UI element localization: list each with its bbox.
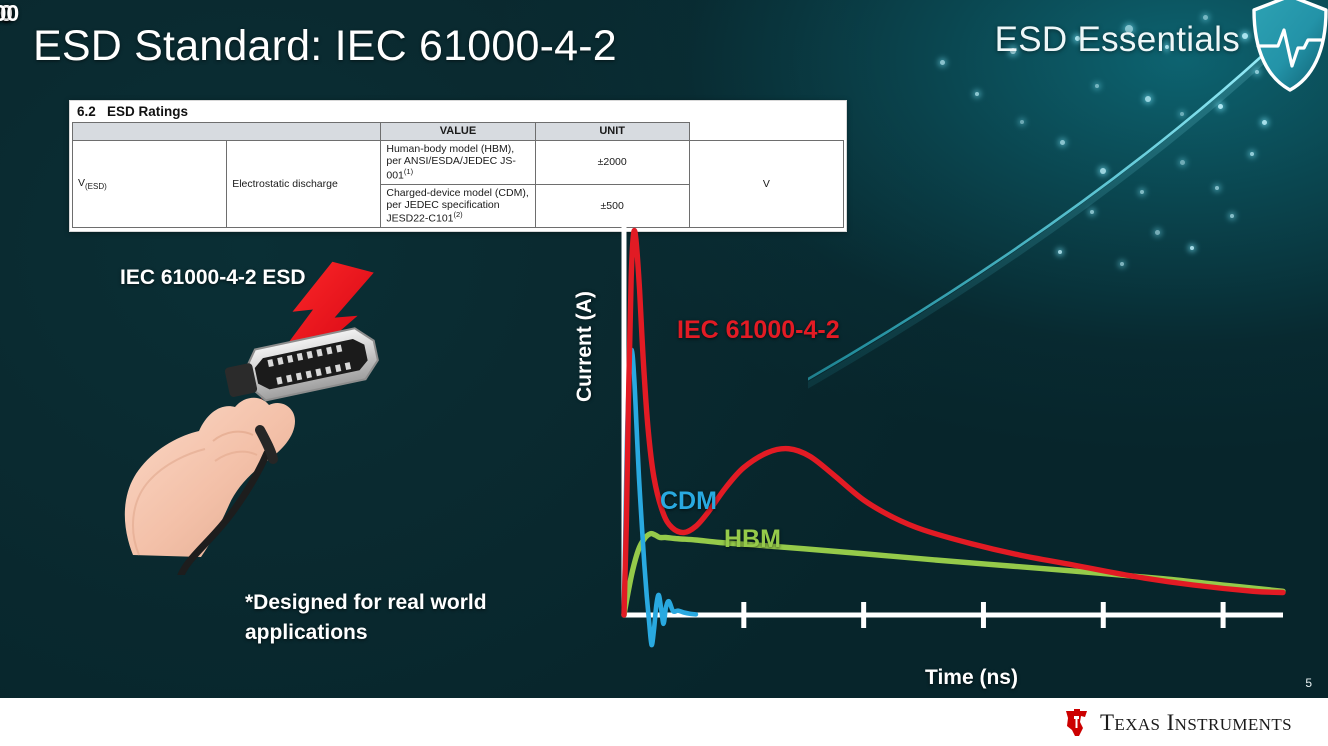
particle xyxy=(1218,104,1223,109)
hand-shape xyxy=(125,398,295,557)
desc-hbm-footnote: (1) xyxy=(404,167,413,176)
particle xyxy=(940,60,945,65)
note-text: *Designed for real world applications xyxy=(245,588,545,649)
y-axis-title: Current (A) xyxy=(573,362,597,402)
particle xyxy=(1095,84,1099,88)
desc-cdm-footnote: (2) xyxy=(454,210,463,219)
section-number: 6.2 xyxy=(77,104,107,119)
page-number: 5 xyxy=(1305,676,1312,690)
header-value: VALUE xyxy=(381,123,535,141)
particle xyxy=(1100,168,1106,174)
chart-axes xyxy=(624,209,1283,628)
symbol-sub: (ESD) xyxy=(85,182,107,191)
particle xyxy=(1250,152,1254,156)
section-title: ESD Ratings xyxy=(107,104,188,119)
symbol-main: V xyxy=(78,177,85,189)
series-curve-iec-61000-4-2 xyxy=(624,230,1283,615)
cell-symbol: V(ESD) xyxy=(73,140,227,227)
cell-description-cdm: Charged-device model (CDM), per JEDEC sp… xyxy=(381,184,535,228)
particle xyxy=(1262,120,1267,125)
series-label-iec: IEC 61000-4-2 xyxy=(677,316,840,345)
cell-description-hbm: Human-body model (HBM), per ANSI/ESDA/JE… xyxy=(381,140,535,184)
hand-holding-hdmi-connector-icon xyxy=(95,255,435,575)
series-curve-hbm xyxy=(624,534,1283,615)
brand-label: ESD Essentials xyxy=(995,20,1240,60)
table-header-row: VALUE UNIT xyxy=(73,123,844,141)
ti-instruments-rest: NSTRUMENTS xyxy=(1175,715,1292,734)
header-unit: UNIT xyxy=(535,123,689,141)
shield-heartbeat-icon xyxy=(1248,0,1328,98)
particle xyxy=(1060,140,1065,145)
esd-waveform-chart xyxy=(560,195,1305,695)
texas-instruments-logo-icon xyxy=(1061,708,1091,738)
particle xyxy=(1145,96,1151,102)
table-row: V(ESD) Electrostatic discharge Human-bod… xyxy=(73,140,844,184)
chart-series xyxy=(624,230,1283,645)
texas-instruments-logo: TEXAS INSTRUMENTS xyxy=(1061,708,1292,738)
series-label-cdm: CDM xyxy=(660,487,717,516)
ti-texas-rest: EXAS xyxy=(1114,715,1160,734)
x-tick-label: 100 xyxy=(0,0,19,27)
page-title: ESD Standard: IEC 61000-4-2 xyxy=(33,22,617,71)
particle xyxy=(1180,112,1184,116)
ratings-heading: 6.2ESD Ratings xyxy=(70,101,846,122)
ti-texas-cap: T xyxy=(1100,710,1114,735)
particle xyxy=(975,92,979,96)
cell-parameter: Electrostatic discharge xyxy=(227,140,381,227)
x-axis-title: Time (ns) xyxy=(925,666,1018,690)
particle xyxy=(1180,160,1185,165)
cell-value-hbm: ±2000 xyxy=(535,140,689,184)
header-blank-left xyxy=(73,123,381,141)
particle xyxy=(1140,190,1144,194)
particle xyxy=(1215,186,1219,190)
ti-wordmark: TEXAS INSTRUMENTS xyxy=(1100,710,1292,736)
slide-footer: TEXAS INSTRUMENTS xyxy=(0,698,1328,746)
slide-canvas: ESD Standard: IEC 61000-4-2 ESD Essentia… xyxy=(0,0,1328,746)
particle xyxy=(1020,120,1024,124)
series-label-hbm: HBM xyxy=(724,525,781,554)
ti-instruments-cap: I xyxy=(1167,710,1175,735)
